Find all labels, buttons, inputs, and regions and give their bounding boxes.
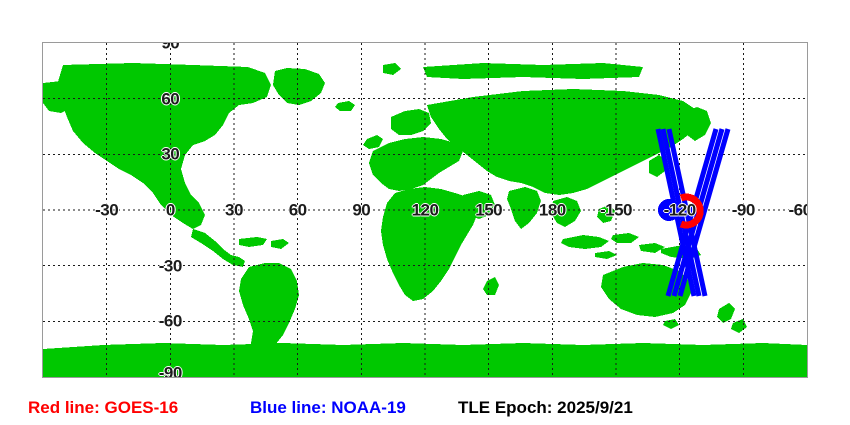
x-tick-label-180: 180 — [539, 202, 566, 219]
x-tick-label--60: -60 — [788, 202, 808, 219]
map-plot-area: -30 0 30 60 90 120 150 180 -150 -120 -90… — [42, 42, 808, 378]
x-tick-label-150: 150 — [475, 202, 502, 219]
y-tick-label-30: 30 — [161, 146, 179, 163]
satellite-ground-track-figure: -30 0 30 60 90 120 150 180 -150 -120 -90… — [0, 0, 850, 425]
x-tick-label-90: 90 — [352, 202, 370, 219]
y-tick-label-90: 90 — [161, 42, 179, 52]
x-tick-label--150: -150 — [600, 202, 632, 219]
x-tick-label-30: 30 — [225, 202, 243, 219]
legend-tle-epoch: TLE Epoch: 2025/9/21 — [458, 398, 633, 418]
y-tick-label-60: 60 — [161, 90, 179, 107]
legend-blue-line-noaa19: Blue line: NOAA-19 — [250, 398, 406, 418]
x-tick-label-60: 60 — [289, 202, 307, 219]
x-tick-label--120: -120 — [664, 202, 696, 219]
y-tick-label--90: -90 — [159, 365, 182, 379]
y-tick-label--30: -30 — [159, 257, 182, 274]
legend: Red line: GOES-16 Blue line: NOAA-19 TLE… — [0, 392, 850, 425]
x-tick-label-120: 120 — [412, 202, 439, 219]
y-tick-label-0: 0 — [166, 202, 175, 219]
x-tick-label--30: -30 — [95, 202, 118, 219]
legend-red-line-goes16: Red line: GOES-16 — [28, 398, 178, 418]
y-tick-label--60: -60 — [159, 313, 182, 330]
x-tick-label--90: -90 — [732, 202, 755, 219]
